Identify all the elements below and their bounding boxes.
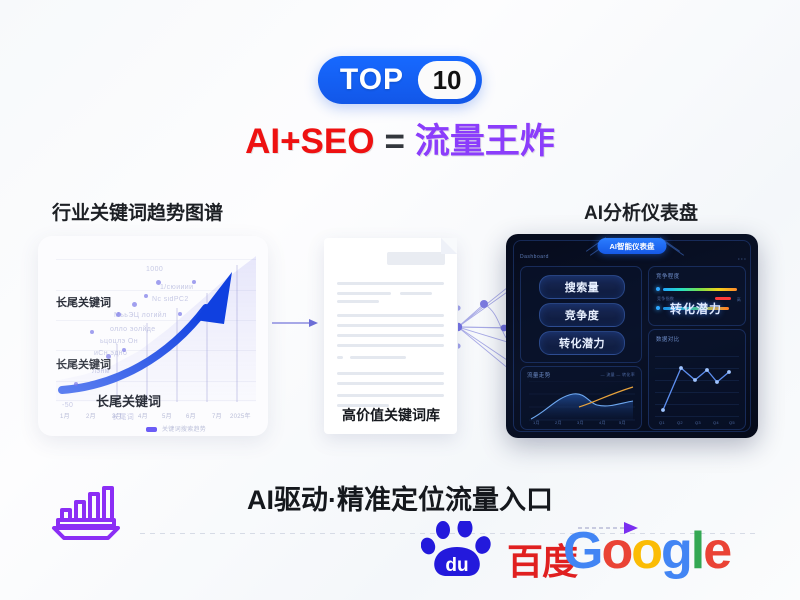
gauge-bar-1 <box>663 288 737 292</box>
document-text-line <box>337 334 444 337</box>
chart-node <box>122 348 126 352</box>
trend-x-label: Q2 <box>677 420 683 425</box>
chart-x-label: 7月 <box>212 411 222 420</box>
chart-node <box>156 280 161 285</box>
network-node <box>480 300 488 308</box>
trend-x-label: Q5 <box>729 420 735 425</box>
chart-plot-area: 1000 1/сюииии Nc sidPC2 МььЭЦ логийл олл… <box>56 250 256 402</box>
bar-chart-icon <box>44 482 126 544</box>
document-text-line <box>337 344 444 347</box>
google-letter-o2: o <box>631 525 661 577</box>
network-node <box>458 343 461 348</box>
baidu-du-mark: du <box>445 555 468 576</box>
left-section-caption: 行业关键词趋势图谱 <box>52 198 223 225</box>
area-chart-graphic <box>529 381 635 421</box>
top-rank-badge: TOP 10 <box>318 56 482 104</box>
google-letter-g1: G <box>563 525 601 577</box>
chart-node <box>90 330 94 334</box>
chart-x-label: 5月 <box>162 411 172 420</box>
metric-pill-search-volume[interactable]: 搜索量 <box>539 275 625 299</box>
document-label: 高价值关键词库 <box>326 405 456 425</box>
document-text-line <box>337 382 444 385</box>
google-letter-o1: o <box>601 525 631 577</box>
gauge-overlay-text: 转化潜力 <box>648 300 744 317</box>
gauge-marker-dot <box>656 287 660 291</box>
chart-x-label: 4月 <box>138 411 148 420</box>
chart-keyword-label-1: 长尾关键词 <box>56 294 111 310</box>
document-text-line <box>350 356 406 359</box>
chart-legend-text: 关键词搜索趋势 <box>162 424 206 433</box>
competition-gauge-panel: 竞争程度 竞争指数 高 <box>648 266 746 326</box>
chart-x-label: 6月 <box>186 411 196 420</box>
flow-arrow-icon <box>272 318 318 328</box>
page-title: AI+SEO=流量王炸 <box>0 124 800 159</box>
document-header-block <box>387 252 445 265</box>
right-section-caption: AI分析仪表盘 <box>584 198 698 225</box>
search-engine-logos: du 百度 Google <box>415 519 755 581</box>
top-badge-number: 10 <box>418 61 476 99</box>
area-chart-title: 流量走势 <box>527 371 551 379</box>
document-text-line <box>400 292 432 295</box>
top-badge-word: TOP <box>340 65 418 95</box>
headline-operator: = <box>374 122 414 161</box>
google-wordmark: Google <box>563 525 730 577</box>
network-node <box>458 305 461 310</box>
google-letter-l: l <box>691 525 703 577</box>
metric-pill-competition[interactable]: 竞争度 <box>539 303 625 327</box>
document-text-line <box>337 372 444 375</box>
data-comparison-panel: 数据对比 Q1 Q2 Q3 Q4 Q5 <box>648 329 746 430</box>
document-text-line <box>337 314 444 317</box>
baidu-paw-icon: du <box>421 521 507 579</box>
document-bullet <box>337 356 343 359</box>
keyword-trend-chart-card: 1000 1/сюииии Nc sidPC2 МььЭЦ логийл олл… <box>38 236 268 436</box>
trend-x-label: Q1 <box>659 420 665 425</box>
chart-node <box>192 280 196 284</box>
chart-x-label: 1月 <box>60 411 70 420</box>
area-x-label: 5月 <box>619 420 626 426</box>
traffic-area-chart-panel: 流量走势 — 流量 — 转化率 1月 2月 3月 4 <box>520 366 642 430</box>
document-text-line <box>337 300 379 303</box>
headline-right: 流量王炸 <box>415 122 555 161</box>
gauge-panel-title: 竞争程度 <box>656 272 680 280</box>
area-x-label: 1月 <box>533 420 540 426</box>
chart-node <box>116 312 121 317</box>
area-x-label: 3月 <box>577 420 584 426</box>
chart-footnote: 长尾词 <box>112 412 134 422</box>
area-x-label: 4月 <box>599 420 606 426</box>
metric-pills-panel: 搜索量 竞争度 转化潜力 <box>520 266 642 363</box>
dashboard-title-badge: AI智能仪表盘 <box>598 238 667 254</box>
trend-x-label: Q3 <box>695 420 701 425</box>
chart-node <box>74 382 78 386</box>
chart-x-label: 2025年 <box>230 411 251 420</box>
document-text-line <box>337 324 444 327</box>
trend-x-label: Q4 <box>713 420 719 425</box>
google-letter-e: e <box>703 525 730 577</box>
chart-node <box>178 312 182 316</box>
chart-legend-swatch <box>146 427 157 432</box>
chart-node <box>132 302 137 307</box>
area-x-label: 2月 <box>555 420 562 426</box>
chart-inner: 1000 1/сюииии Nc sidPC2 МььЭЦ логийл олл… <box>38 236 268 436</box>
headline-left: AI+SEO <box>245 122 374 161</box>
google-letter-g2: g <box>661 525 691 577</box>
chart-keyword-label-3: 长尾关键词 <box>96 391 161 410</box>
document-text-line <box>337 292 391 295</box>
chart-x-label: 2月 <box>86 411 96 420</box>
chart-node <box>144 294 148 298</box>
dashboard-menu-dots[interactable]: • • • <box>738 256 746 261</box>
slide-canvas: TOP 10 AI+SEO=流量王炸 行业关键词趋势图谱 AI分析仪表盘 <box>0 0 800 600</box>
trend-panel-title: 数据对比 <box>656 335 680 343</box>
document-text-line <box>337 282 444 285</box>
dashboard-subtitle: Dashboard <box>520 254 549 260</box>
chart-keyword-label-2: 长尾关键词 <box>56 356 111 372</box>
trend-line-graphic <box>659 346 739 420</box>
ai-dashboard-panel: AI智能仪表盘 Dashboard • • • 搜索量 竞争度 转化潜力 流量走… <box>506 234 758 438</box>
metric-pill-conversion[interactable]: 转化潜力 <box>539 331 625 355</box>
document-text-line <box>337 394 444 397</box>
